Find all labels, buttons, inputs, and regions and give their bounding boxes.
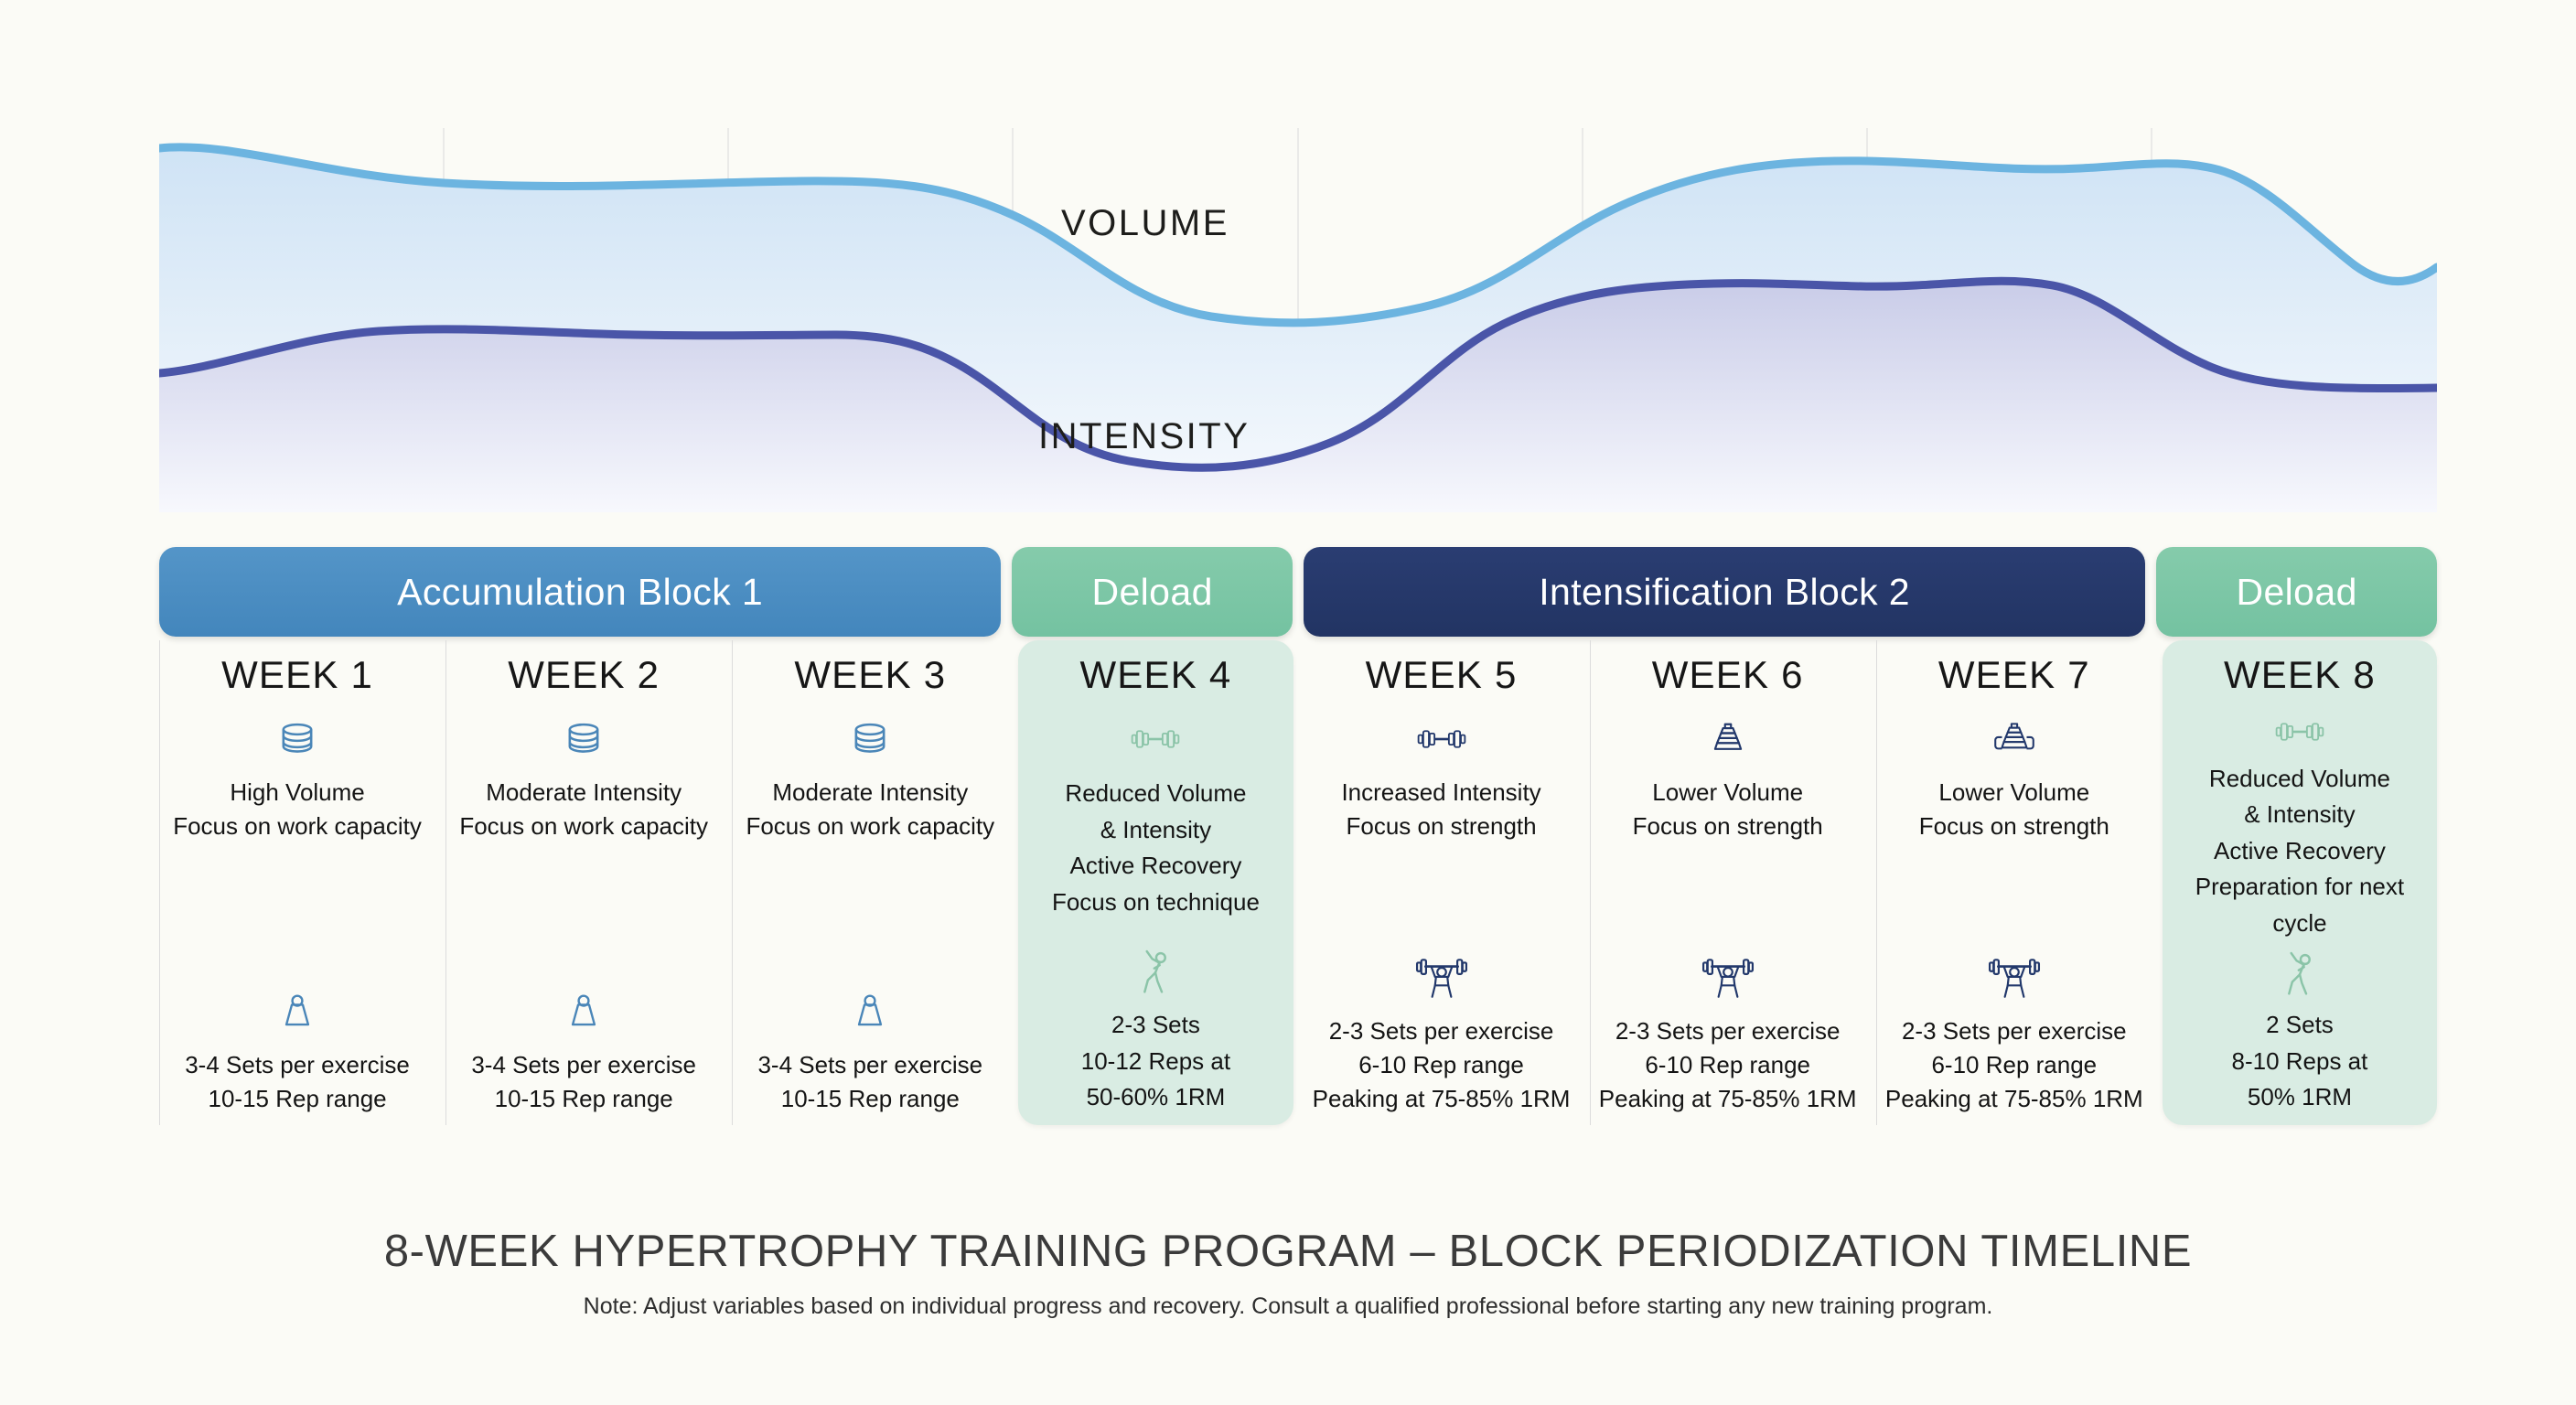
detail-line: 8-10 Reps at <box>2232 1044 2368 1080</box>
detail-line: 6-10 Rep range <box>1599 1048 1857 1082</box>
detail-line: 6-10 Rep range <box>1313 1048 1571 1082</box>
focus-line: Focus on strength <box>1919 810 2109 843</box>
week-card-4[interactable]: WEEK 4 Reduced Volume & Intensity Active… <box>1018 640 1293 1125</box>
dumbbell-icon <box>1416 712 1467 767</box>
page-title: 8-WEEK HYPERTROPHY TRAINING PROGRAM – BL… <box>0 1226 2576 1277</box>
week-title: WEEK 3 <box>794 653 946 697</box>
week-focus: Increased Intensity Focus on strength <box>1341 776 1540 843</box>
focus-line: Lower Volume <box>1919 776 2109 810</box>
chart-svg <box>159 128 2437 512</box>
week-card-7[interactable]: WEEK 7 Lower Volume Focus on strength <box>1876 640 2152 1125</box>
focus-line: Active Recovery <box>2168 833 2431 870</box>
detail-line: 10-15 Rep range <box>757 1082 982 1116</box>
focus-line: Reduced Volume <box>2168 761 2431 798</box>
week-title: WEEK 1 <box>221 653 373 697</box>
block-bar-label: Deload <box>2236 571 2356 614</box>
week-title: WEEK 5 <box>1366 653 1518 697</box>
focus-line: Preparation for next cycle <box>2168 869 2431 941</box>
footer: 8-WEEK HYPERTROPHY TRAINING PROGRAM – BL… <box>0 1226 2576 1320</box>
week-focus: Moderate Intensity Focus on work capacit… <box>459 776 708 843</box>
detail-line: 3-4 Sets per exercise <box>185 1048 410 1082</box>
detail-line: 3-4 Sets per exercise <box>757 1048 982 1082</box>
week-title: WEEK 4 <box>1079 653 1231 697</box>
week-card-6[interactable]: WEEK 6 Lower Volume Focus on strength <box>1590 640 1865 1125</box>
detail-line: 3-4 Sets per exercise <box>471 1048 696 1082</box>
week-focus: Reduced Volume & Intensity Active Recove… <box>2168 761 2431 942</box>
week-card-1[interactable]: WEEK 1 High Volume Focus on work capacit… <box>159 640 435 1125</box>
detail-line: 50% 1RM <box>2232 1079 2368 1116</box>
week-focus: Lower Volume Focus on strength <box>1633 776 1823 843</box>
week-title: WEEK 2 <box>508 653 660 697</box>
focus-line: & Intensity <box>1052 812 1260 849</box>
detail-line: 2-3 Sets per exercise <box>1313 1014 1571 1048</box>
focus-line: Focus on strength <box>1633 810 1823 843</box>
kettlebell-weight-icon <box>560 984 607 1039</box>
kettlebell-weight-icon <box>846 984 894 1039</box>
focus-line: Focus on work capacity <box>173 810 422 843</box>
block-bar-label: Accumulation Block 1 <box>397 571 763 614</box>
kettlebell-weight-icon <box>274 984 321 1039</box>
intensity-curve-label: INTENSITY <box>1038 416 1250 457</box>
focus-line: High Volume <box>173 776 422 810</box>
week-focus: Moderate Intensity Focus on work capacit… <box>746 776 994 843</box>
detail-line: 10-15 Rep range <box>185 1082 410 1116</box>
weightlifter-icon <box>1988 950 2041 1005</box>
focus-line: Focus on work capacity <box>459 810 708 843</box>
detail-line: 2-3 Sets <box>1081 1007 1230 1044</box>
detail-line: 50-60% 1RM <box>1081 1079 1230 1116</box>
block-bar-label: Intensification Block 2 <box>1539 571 1910 614</box>
detail-line: 10-12 Reps at <box>1081 1044 1230 1080</box>
week-details: 2-3 Sets per exercise 6-10 Rep range Pea… <box>1599 1014 1857 1116</box>
weightlifter-icon <box>1701 950 1755 1005</box>
plate-stack-barbell-icon <box>1990 712 2039 767</box>
volume-curve-label: VOLUME <box>1061 203 1229 244</box>
detail-line: 2-3 Sets per exercise <box>1599 1014 1857 1048</box>
detail-line: Peaking at 75-85% 1RM <box>1313 1082 1571 1116</box>
week-cards-row: WEEK 1 High Volume Focus on work capacit… <box>159 640 2437 1125</box>
volume-stack-icon <box>272 712 323 767</box>
dumbbell-icon <box>2274 712 2325 752</box>
week-details: 2-3 Sets per exercise 6-10 Rep range Pea… <box>1885 1014 2143 1116</box>
focus-line: Focus on technique <box>1052 885 1260 921</box>
detail-line: Peaking at 75-85% 1RM <box>1885 1082 2143 1116</box>
focus-line: Focus on strength <box>1341 810 1540 843</box>
weight-plate-stack-icon <box>1704 712 1752 767</box>
week-title: WEEK 7 <box>1938 653 2090 697</box>
week-card-2[interactable]: WEEK 2 Moderate Intensity Focus on work … <box>445 640 721 1125</box>
focus-line: Reduced Volume <box>1052 776 1260 812</box>
focus-line: Focus on work capacity <box>746 810 994 843</box>
week-details: 2 Sets 8-10 Reps at 50% 1RM <box>2232 1007 2368 1116</box>
week-details: 2-3 Sets 10-12 Reps at 50-60% 1RM <box>1081 1007 1230 1116</box>
block-bar-accumulation-1[interactable]: Accumulation Block 1 <box>159 547 1001 637</box>
stretching-person-icon <box>1132 943 1178 998</box>
focus-line: & Intensity <box>2168 797 2431 833</box>
focus-line: Moderate Intensity <box>746 776 994 810</box>
week-focus: High Volume Focus on work capacity <box>173 776 422 843</box>
infographic-canvas: VOLUME INTENSITY Accumulation Block 1 De… <box>0 0 2576 1405</box>
block-bar-deload-1[interactable]: Deload <box>1012 547 1293 637</box>
focus-line: Moderate Intensity <box>459 776 708 810</box>
week-card-8[interactable]: WEEK 8 Reduced Volume & Intensity Active… <box>2163 640 2437 1125</box>
week-details: 3-4 Sets per exercise 10-15 Rep range <box>471 1048 696 1116</box>
week-title: WEEK 8 <box>2224 653 2376 697</box>
week-title: WEEK 6 <box>1652 653 1804 697</box>
detail-line: 10-15 Rep range <box>471 1082 696 1116</box>
volume-stack-icon <box>558 712 609 767</box>
week-focus: Reduced Volume & Intensity Active Recove… <box>1052 776 1260 920</box>
week-focus: Lower Volume Focus on strength <box>1919 776 2109 843</box>
week-details: 3-4 Sets per exercise 10-15 Rep range <box>185 1048 410 1116</box>
periodization-chart <box>159 128 2437 512</box>
footer-note: Note: Adjust variables based on individu… <box>0 1293 2576 1320</box>
week-card-5[interactable]: WEEK 5 Increased Intensity Focus on stre… <box>1304 640 1579 1125</box>
focus-line: Increased Intensity <box>1341 776 1540 810</box>
week-card-3[interactable]: WEEK 3 Moderate Intensity Focus on work … <box>732 640 1007 1125</box>
week-details: 3-4 Sets per exercise 10-15 Rep range <box>757 1048 982 1116</box>
dumbbell-icon <box>1130 712 1181 767</box>
weightlifter-icon <box>1415 950 1468 1005</box>
detail-line: 2-3 Sets per exercise <box>1885 1014 2143 1048</box>
block-bars-row: Accumulation Block 1 Deload Intensificat… <box>159 547 2437 637</box>
detail-line: 6-10 Rep range <box>1885 1048 2143 1082</box>
block-bar-intensification-2[interactable]: Intensification Block 2 <box>1304 547 2145 637</box>
volume-stack-icon <box>844 712 896 767</box>
focus-line: Active Recovery <box>1052 848 1260 885</box>
stretching-person-icon <box>2277 947 2323 998</box>
detail-line: Peaking at 75-85% 1RM <box>1599 1082 1857 1116</box>
focus-line: Lower Volume <box>1633 776 1823 810</box>
block-bar-deload-2[interactable]: Deload <box>2156 547 2437 637</box>
detail-line: 2 Sets <box>2232 1007 2368 1044</box>
week-details: 2-3 Sets per exercise 6-10 Rep range Pea… <box>1313 1014 1571 1116</box>
block-bar-label: Deload <box>1091 571 1212 614</box>
